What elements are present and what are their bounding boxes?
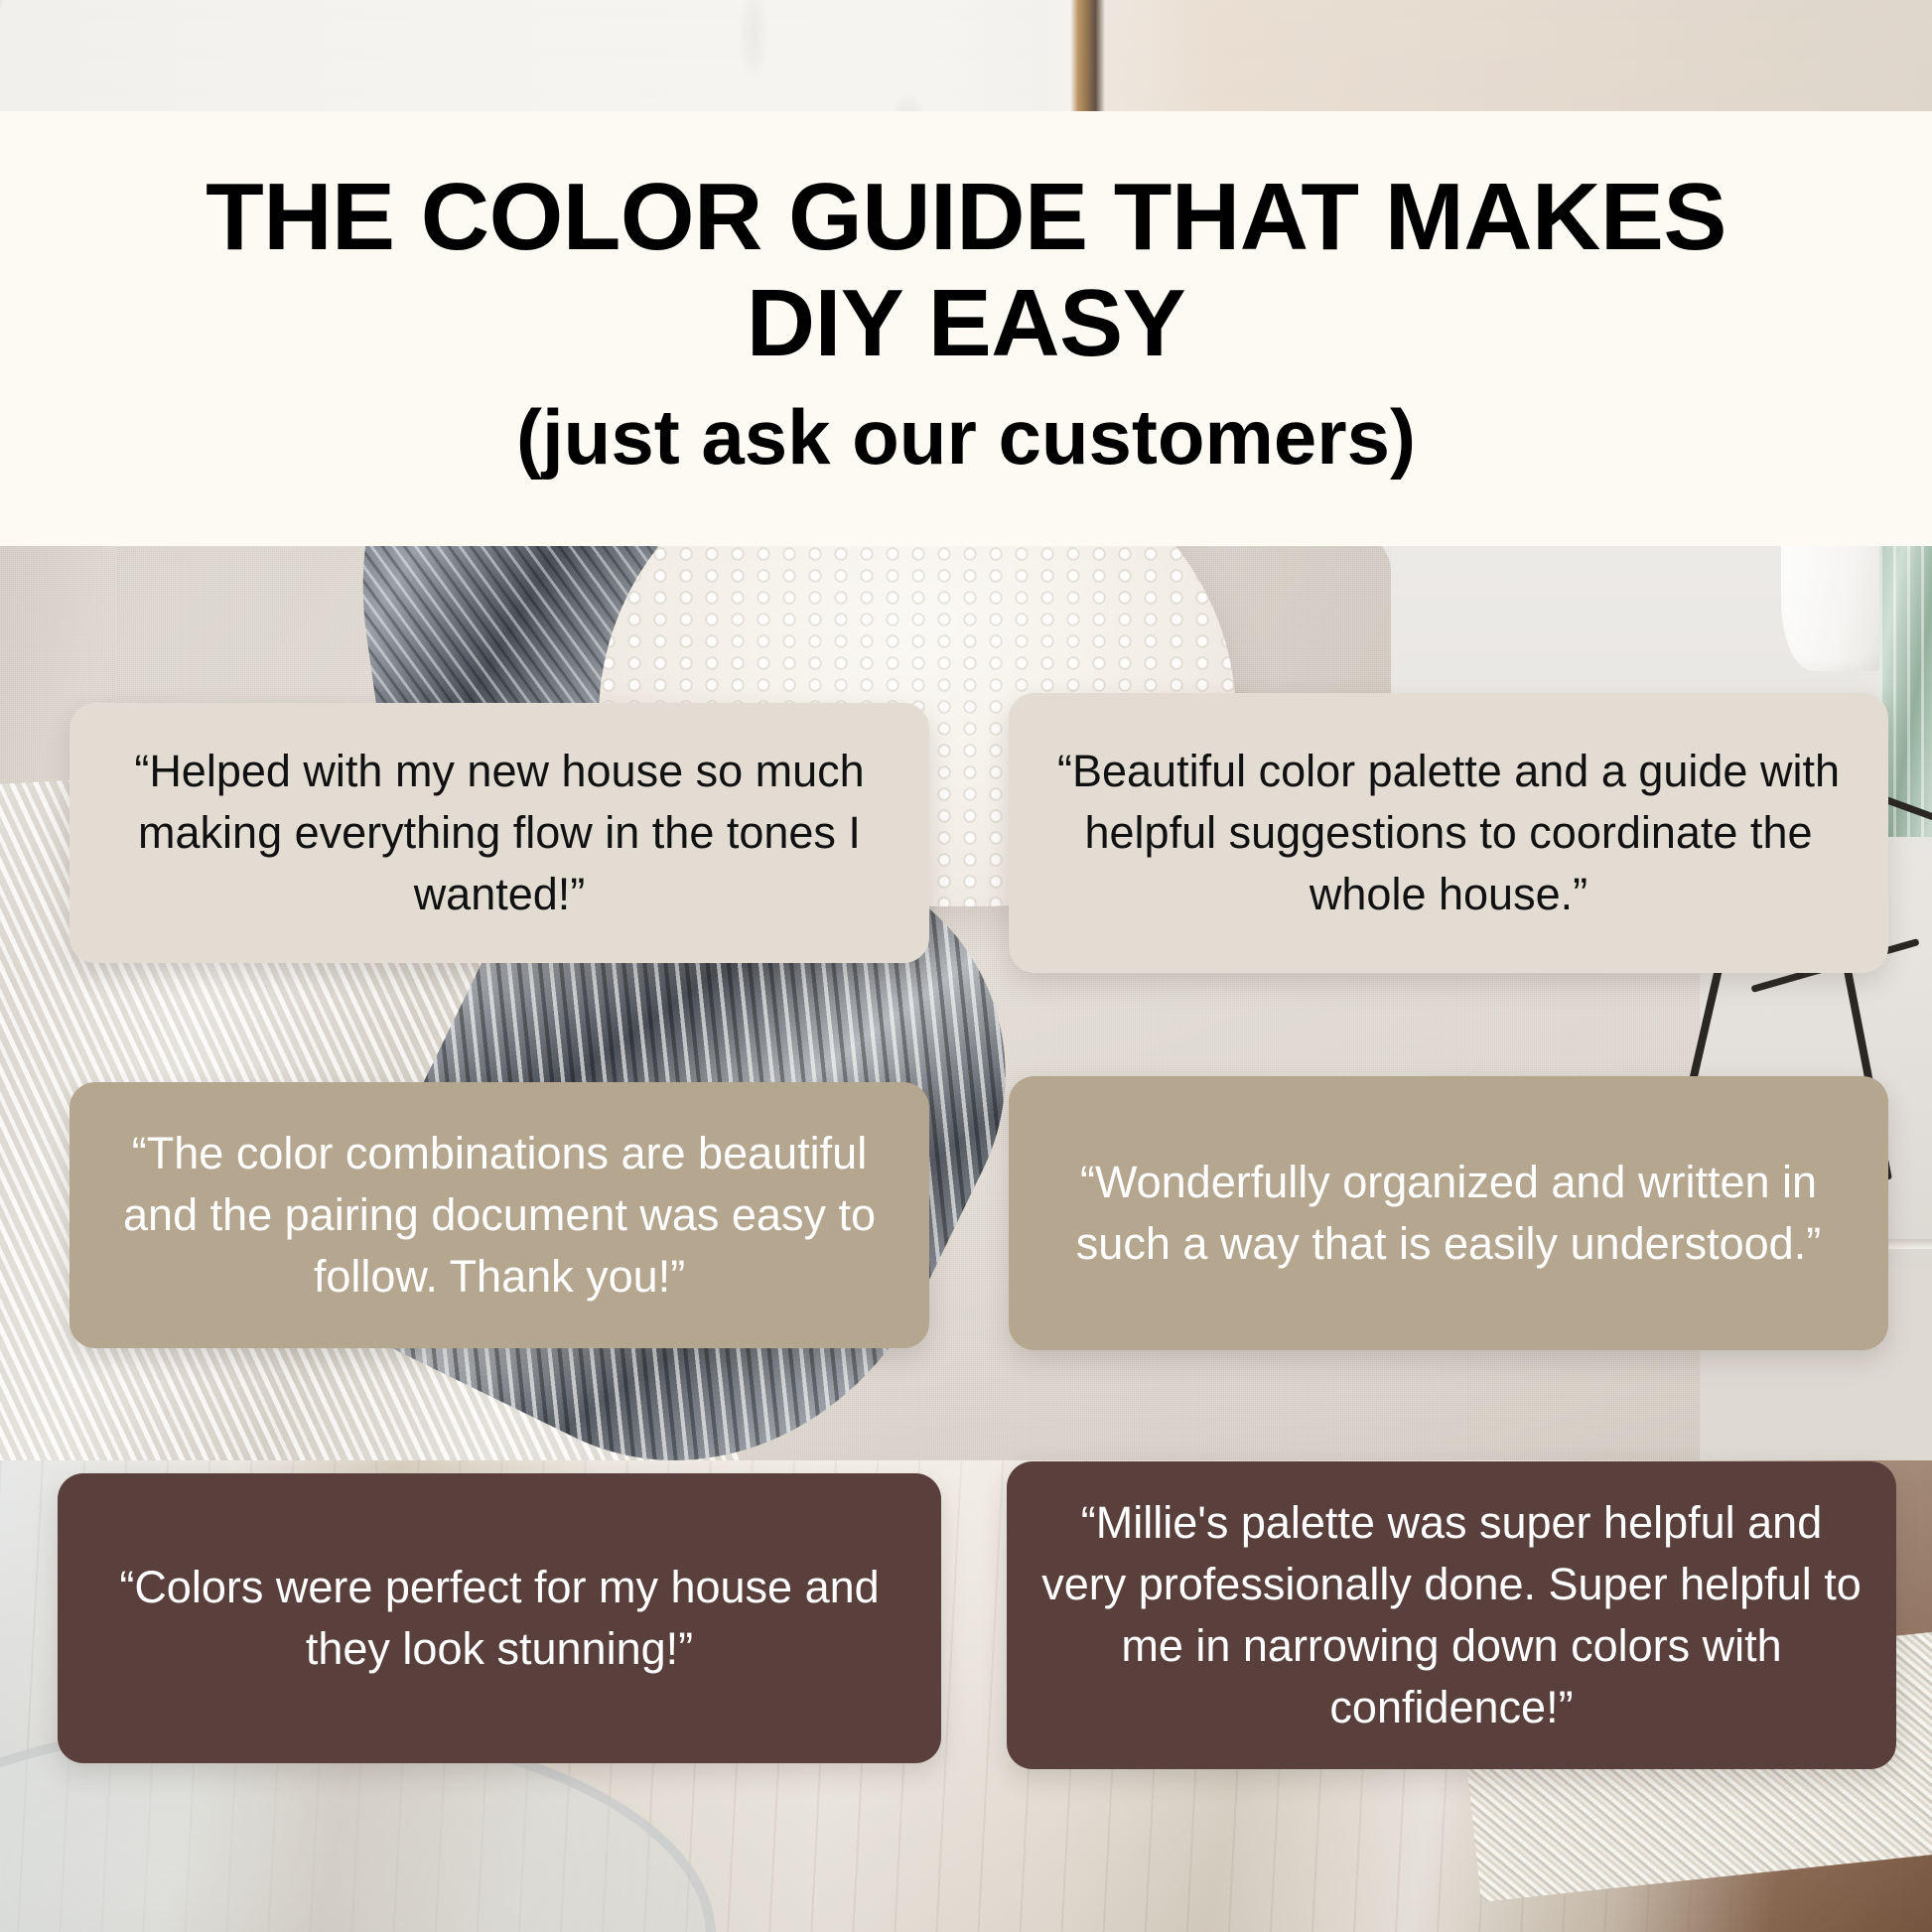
- testimonial-quote: “Helped with my new house so much making…: [103, 741, 896, 925]
- testimonial-quote: “Wonderfully organized and written in su…: [1042, 1152, 1855, 1275]
- testimonial-card: “Colors were perfect for my house and th…: [58, 1473, 941, 1763]
- testimonial-card: “Wonderfully organized and written in su…: [1009, 1076, 1888, 1350]
- testimonial-card: “Helped with my new house so much making…: [69, 703, 929, 963]
- testimonial-card: “Beautiful color palette and a guide wit…: [1009, 693, 1888, 973]
- testimonial-card: “Millie's palette was super helpful and …: [1007, 1461, 1896, 1769]
- testimonial-quote: “Millie's palette was super helpful and …: [1040, 1492, 1863, 1738]
- poster-canvas: THE COLOR GUIDE THAT MAKES DIY EASY (jus…: [0, 0, 1932, 1932]
- testimonial-quote: “Colors were perfect for my house and th…: [91, 1557, 907, 1680]
- testimonial-quote: “The color combinations are beautiful an…: [103, 1123, 896, 1308]
- testimonial-quote: “Beautiful color palette and a guide wit…: [1042, 741, 1855, 925]
- testimonial-card: “The color combinations are beautiful an…: [69, 1082, 929, 1348]
- testimonial-grid: “Helped with my new house so much making…: [0, 0, 1932, 1932]
